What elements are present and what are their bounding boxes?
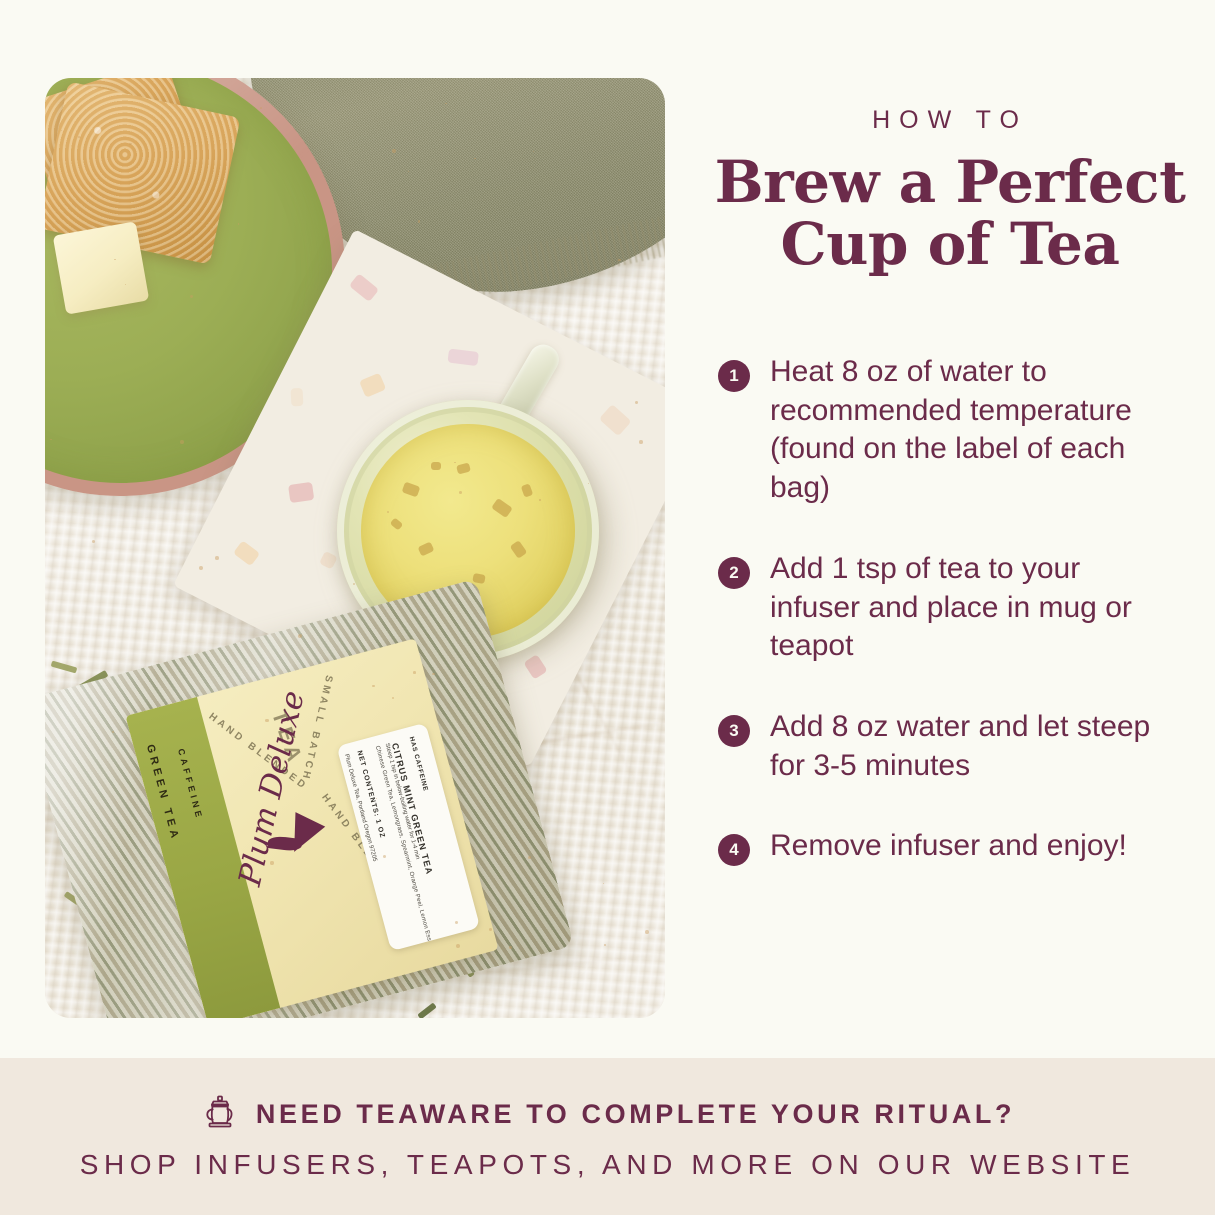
terrazzo-chip [599, 404, 632, 436]
step-text: Remove infuser and enjoy! [770, 827, 1127, 866]
tea-leaf-fleck [390, 517, 404, 530]
tea-leaf-fleck [402, 482, 421, 498]
step-text: Heat 8 oz of water to recommended temper… [770, 353, 1158, 508]
step-number-badge: 2 [718, 557, 750, 589]
surface-speck [114, 259, 115, 260]
terrazzo-chip [359, 373, 386, 398]
surface-speck [618, 259, 620, 261]
cta-banner-line-1: NEED TEAWARE TO COMPLETE YOUR RITUAL? [200, 1092, 1015, 1137]
hero-photo: GREEN TEA CAFFEINE HAND BLENDED SMALL BA… [45, 78, 665, 1018]
surface-speck [604, 944, 606, 946]
tea-leaf-fleck [521, 483, 534, 497]
surface-speck [50, 439, 51, 440]
surface-speck [199, 566, 203, 570]
surface-speck [372, 685, 374, 687]
surface-speck [639, 440, 643, 444]
tea-leaf-fleck [491, 498, 513, 518]
teapot-icon [200, 1092, 240, 1137]
terrazzo-chip [288, 482, 314, 503]
surface-speck [645, 930, 649, 934]
title-line-2: Cup of Tea [700, 213, 1200, 275]
label-arc-small-batch: SMALL BATCH [299, 674, 334, 782]
cta-subline: SHOP INFUSERS, TEAPOTS, AND MORE ON OUR … [80, 1149, 1136, 1181]
step-number-badge: 4 [718, 834, 750, 866]
surface-speck [215, 556, 219, 560]
surface-speck [112, 731, 114, 733]
step-item: 3Add 8 oz water and let steep for 3-5 mi… [718, 708, 1200, 785]
step-number-badge: 3 [718, 715, 750, 747]
surface-speck [392, 149, 396, 153]
page-title: Brew a Perfect Cup of Tea [700, 151, 1200, 275]
step-text: Add 8 oz water and let steep for 3-5 min… [770, 708, 1158, 785]
cta-headline: NEED TEAWARE TO COMPLETE YOUR RITUAL? [256, 1099, 1015, 1130]
surface-speck [78, 136, 80, 138]
title-line-1: Brew a Perfect [700, 151, 1200, 213]
step-number-badge: 1 [718, 360, 750, 392]
cta-banner[interactable]: NEED TEAWARE TO COMPLETE YOUR RITUAL? SH… [0, 1058, 1215, 1215]
content-column: HOW TO Brew a Perfect Cup of Tea 1Heat 8… [700, 0, 1200, 1058]
terrazzo-chip [233, 540, 260, 566]
infographic-page: GREEN TEA CAFFEINE HAND BLENDED SMALL BA… [0, 0, 1215, 1215]
tea-leaf-fleck [510, 540, 528, 559]
cheese-cube [53, 221, 150, 314]
surface-speck [432, 673, 434, 675]
surface-speck [238, 223, 240, 225]
step-item: 4Remove infuser and enjoy! [718, 827, 1200, 866]
terrazzo-chip [291, 388, 304, 407]
terrazzo-chip [319, 551, 338, 570]
step-text: Add 1 tsp of tea to your infuser and pla… [770, 550, 1158, 666]
surface-speck [92, 540, 95, 543]
step-item: 2Add 1 tsp of tea to your infuser and pl… [718, 550, 1200, 666]
surface-speck [603, 883, 604, 884]
surface-speck [455, 921, 458, 924]
tea-leaf-fleck [418, 542, 435, 557]
terrazzo-chip [349, 273, 379, 302]
eyebrow-label: HOW TO [700, 106, 1200, 135]
steps-list: 1Heat 8 oz of water to recommended tempe… [700, 353, 1200, 866]
surface-speck [459, 491, 462, 494]
surface-speck [298, 634, 302, 638]
step-item: 1Heat 8 oz of water to recommended tempe… [718, 353, 1200, 508]
terrazzo-chip [447, 349, 478, 367]
surface-speck [413, 671, 416, 674]
surface-speck [456, 944, 460, 948]
surface-speck [265, 719, 268, 722]
surface-speck [539, 499, 540, 500]
tea-leaf-fleck [456, 462, 471, 474]
surface-speck [635, 401, 638, 404]
surface-speck [190, 295, 193, 298]
surface-speck [270, 861, 273, 864]
tea-leaf-fleck [431, 462, 441, 470]
surface-speck [180, 440, 184, 444]
